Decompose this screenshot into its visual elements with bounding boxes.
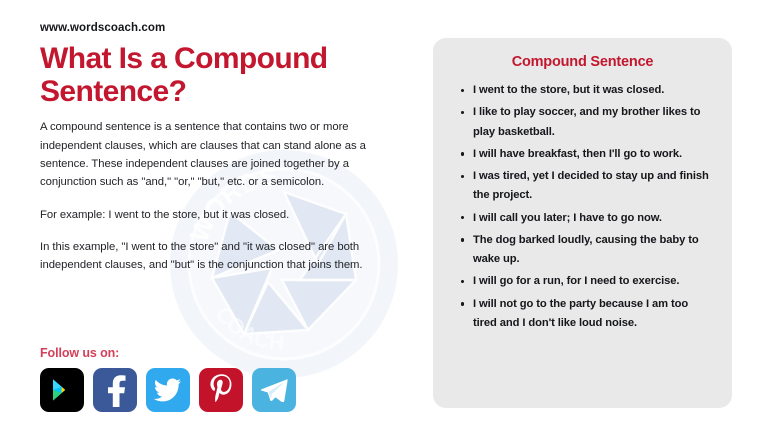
example-paragraph: For example: I went to the store, but it… — [40, 206, 408, 224]
twitter-icon[interactable] — [146, 368, 190, 412]
google-play-icon[interactable] — [40, 368, 84, 412]
list-item: I will call you later; I have to go now. — [461, 209, 714, 228]
examples-list: I went to the store, but it was closed. … — [447, 81, 718, 333]
explanation-paragraph: In this example, "I went to the store" a… — [40, 238, 408, 275]
list-item: I will go for a run, for I need to exerc… — [461, 272, 714, 291]
left-content-column: www.wordscoach.com What Is a Compound Se… — [40, 22, 408, 274]
list-item: The dog barked loudly, causing the baby … — [461, 231, 714, 270]
list-item: I will have breakfast, then I'll go to w… — [461, 145, 714, 164]
facebook-icon[interactable] — [93, 368, 137, 412]
telegram-icon[interactable] — [252, 368, 296, 412]
list-item: I like to play soccer, and my brother li… — [461, 103, 714, 142]
site-url: www.wordscoach.com — [40, 22, 408, 34]
follow-us-block: Follow us on: — [40, 346, 296, 412]
social-icon-row — [40, 368, 296, 412]
list-item: I went to the store, but it was closed. — [461, 81, 714, 100]
page-title: What Is a Compound Sentence? — [40, 43, 408, 108]
pinterest-icon[interactable] — [199, 368, 243, 412]
list-item: I was tired, yet I decided to stay up an… — [461, 167, 714, 206]
definition-paragraph: A compound sentence is a sentence that c… — [40, 118, 408, 191]
list-item: I will not go to the party because I am … — [461, 295, 714, 334]
poster-canvas: WORDS COACH www.wordscoach.com What Is a… — [0, 0, 768, 432]
panel-title: Compound Sentence — [447, 54, 718, 70]
follow-us-label: Follow us on: — [40, 346, 296, 360]
examples-panel: Compound Sentence I went to the store, b… — [433, 38, 732, 408]
